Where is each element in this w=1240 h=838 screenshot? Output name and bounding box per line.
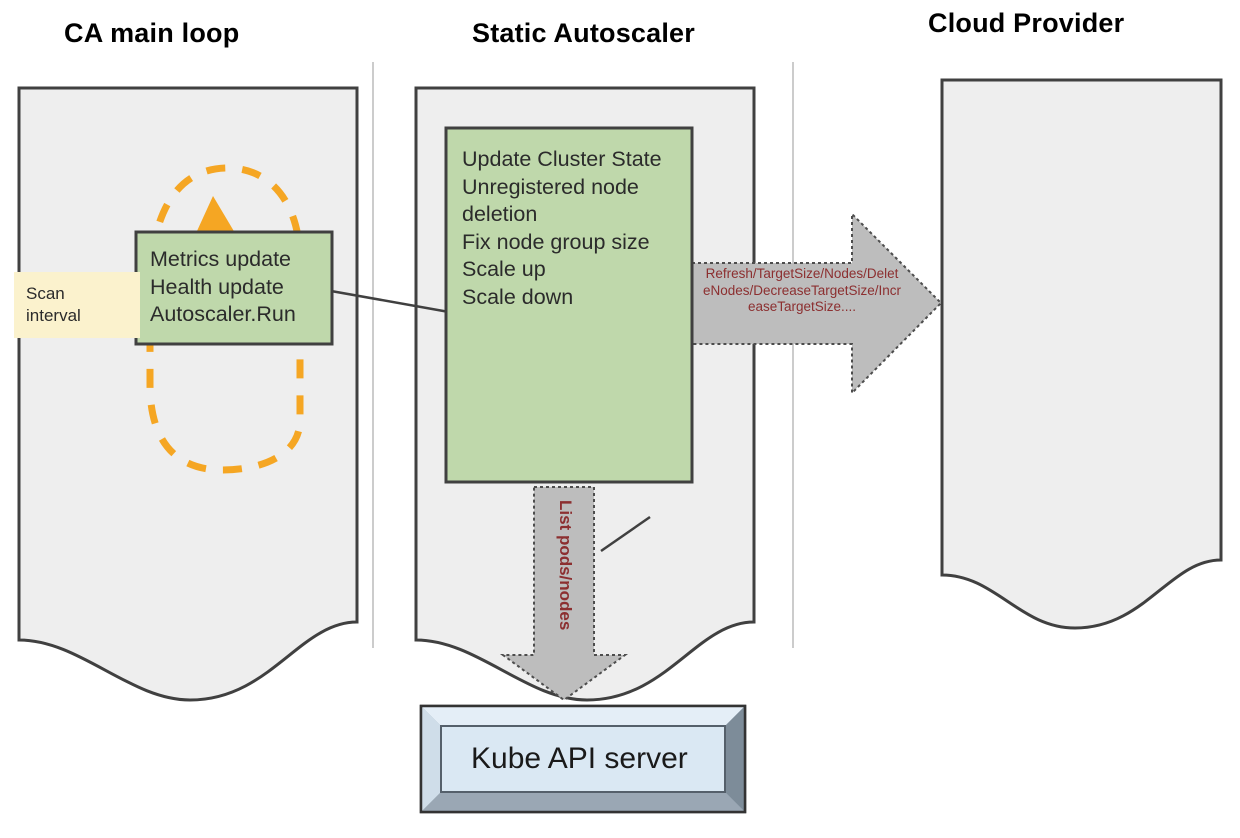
diagram-vector-layer — [0, 0, 1240, 838]
static-autoscaler-label: Update Cluster State Unregistered node d… — [462, 146, 662, 311]
diagram-canvas: CA main loop Static Autoscaler Cloud Pro… — [0, 0, 1240, 838]
list-pods-nodes-arrow-label: List pods/nodes — [555, 500, 575, 630]
lane-shape-cloud-provider — [942, 80, 1221, 628]
cloud-calls-arrow-label: Refresh/TargetSize/Nodes/DeleteNodes/Dec… — [702, 266, 902, 316]
kube-api-server-label: Kube API server — [471, 742, 688, 776]
metrics-update-label: Metrics update Health update Autoscaler.… — [150, 246, 296, 329]
scan-interval-label: Scan interval — [26, 283, 81, 327]
